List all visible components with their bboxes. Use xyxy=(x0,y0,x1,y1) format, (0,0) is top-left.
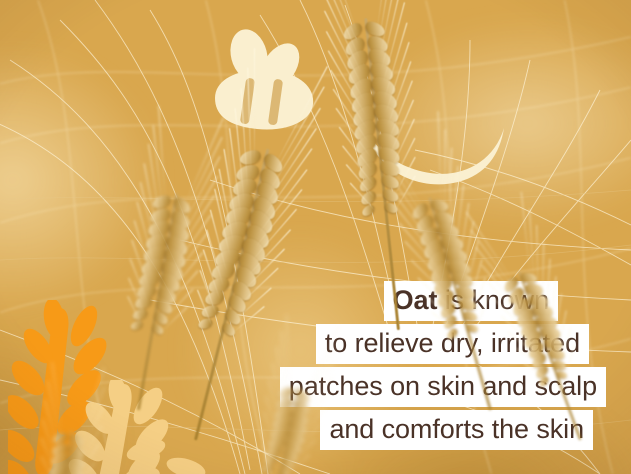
message-line-4: and comforts the skin xyxy=(320,410,593,450)
message-line-4-text: and comforts the skin xyxy=(329,414,584,444)
wheat-kernel xyxy=(552,360,567,370)
banner-canvas: Oat is known to relieve dry, irritated p… xyxy=(0,0,631,474)
